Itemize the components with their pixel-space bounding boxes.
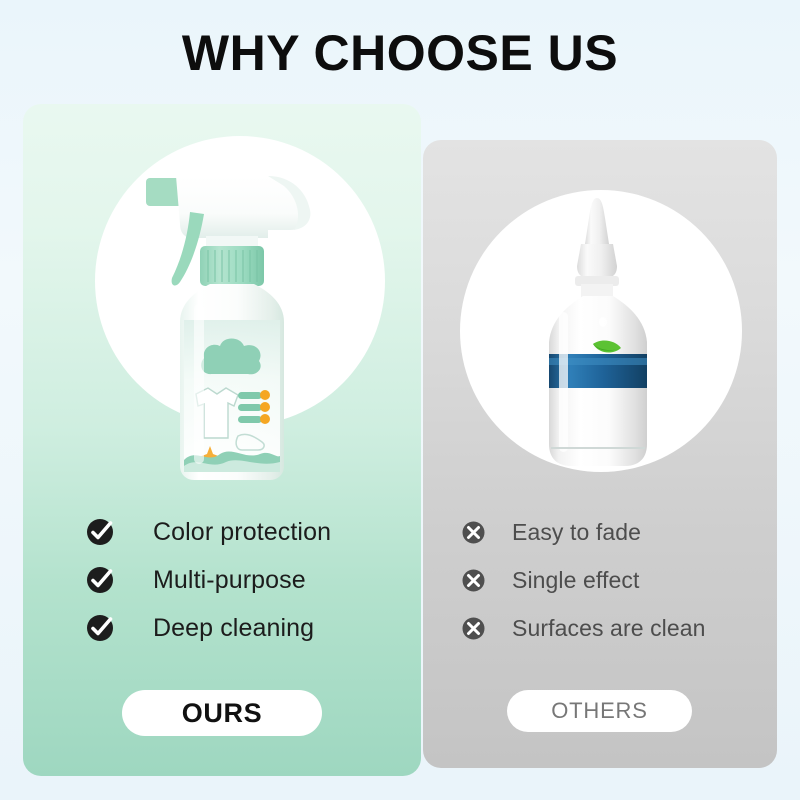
feature-label: Color protection <box>153 518 331 547</box>
squeeze-bottle-image <box>515 192 690 477</box>
check-circle-icon <box>85 565 115 595</box>
page-title: WHY CHOOSE US <box>0 26 800 81</box>
feature-list-others: Easy to fade Single effect Surfaces are … <box>461 508 761 652</box>
x-circle-icon <box>461 568 486 593</box>
panel-others: Easy to fade Single effect Surfaces are … <box>423 140 777 768</box>
feature-row: Single effect <box>461 556 761 604</box>
feature-label: Multi-purpose <box>153 566 306 595</box>
feature-label: Single effect <box>512 567 639 594</box>
spray-bottle-image <box>118 154 363 484</box>
x-circle-icon <box>461 520 486 545</box>
feature-list-ours: Color protection Multi-purpose Deep clea… <box>85 508 405 652</box>
check-circle-icon <box>85 517 115 547</box>
feature-row: Easy to fade <box>461 508 761 556</box>
feature-row: Color protection <box>85 508 405 556</box>
panel-ours: Color protection Multi-purpose Deep clea… <box>23 104 421 776</box>
feature-label: Easy to fade <box>512 519 641 546</box>
feature-row: Surfaces are clean <box>461 604 761 652</box>
feature-label: Deep cleaning <box>153 614 314 643</box>
check-circle-icon <box>85 613 115 643</box>
others-label-pill[interactable]: OTHERS <box>507 690 692 732</box>
feature-row: Deep cleaning <box>85 604 405 652</box>
feature-label: Surfaces are clean <box>512 615 706 642</box>
ours-label-pill[interactable]: OURS <box>122 690 322 736</box>
feature-row: Multi-purpose <box>85 556 405 604</box>
x-circle-icon <box>461 616 486 641</box>
